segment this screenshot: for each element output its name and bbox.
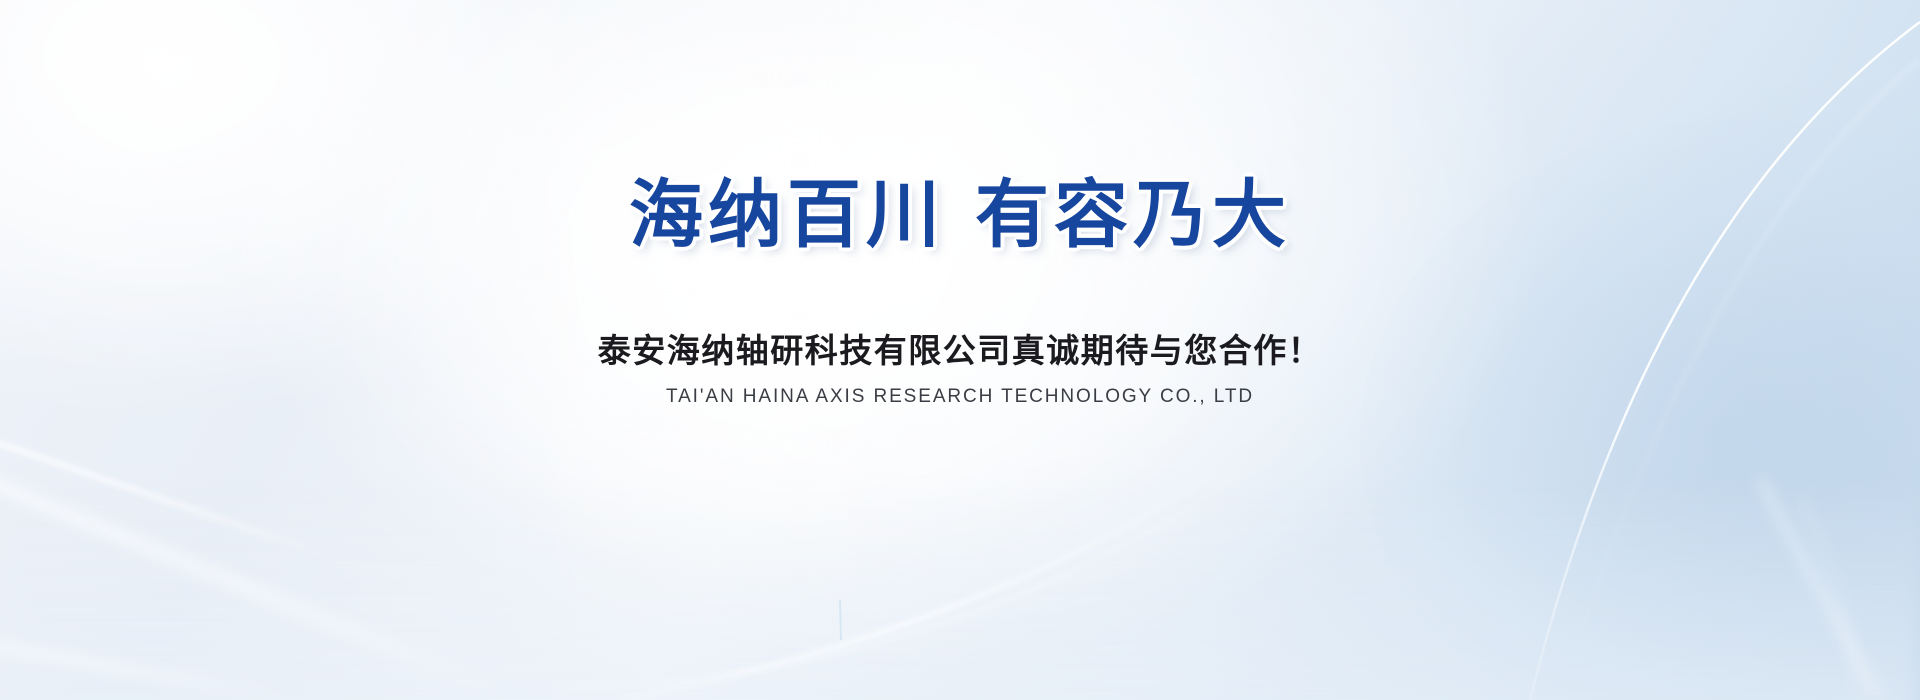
- banner-headline: 海纳百川有容乃大: [629, 178, 1291, 252]
- hero-banner: 海纳百川有容乃大 泰安海纳轴研科技有限公司真诚期待与您合作！ TAI'AN HA…: [0, 0, 1920, 700]
- headline-part-1: 海纳百川: [629, 172, 945, 258]
- banner-subtitle-english: TAI'AN HAINA AXIS RESEARCH TECHNOLOGY CO…: [666, 386, 1254, 408]
- banner-subtitle-chinese: 泰安海纳轴研科技有限公司真诚期待与您合作！: [598, 324, 1323, 372]
- headline-part-2: 有容乃大: [975, 172, 1291, 258]
- banner-content: 海纳百川有容乃大 泰安海纳轴研科技有限公司真诚期待与您合作！ TAI'AN HA…: [0, 0, 1920, 700]
